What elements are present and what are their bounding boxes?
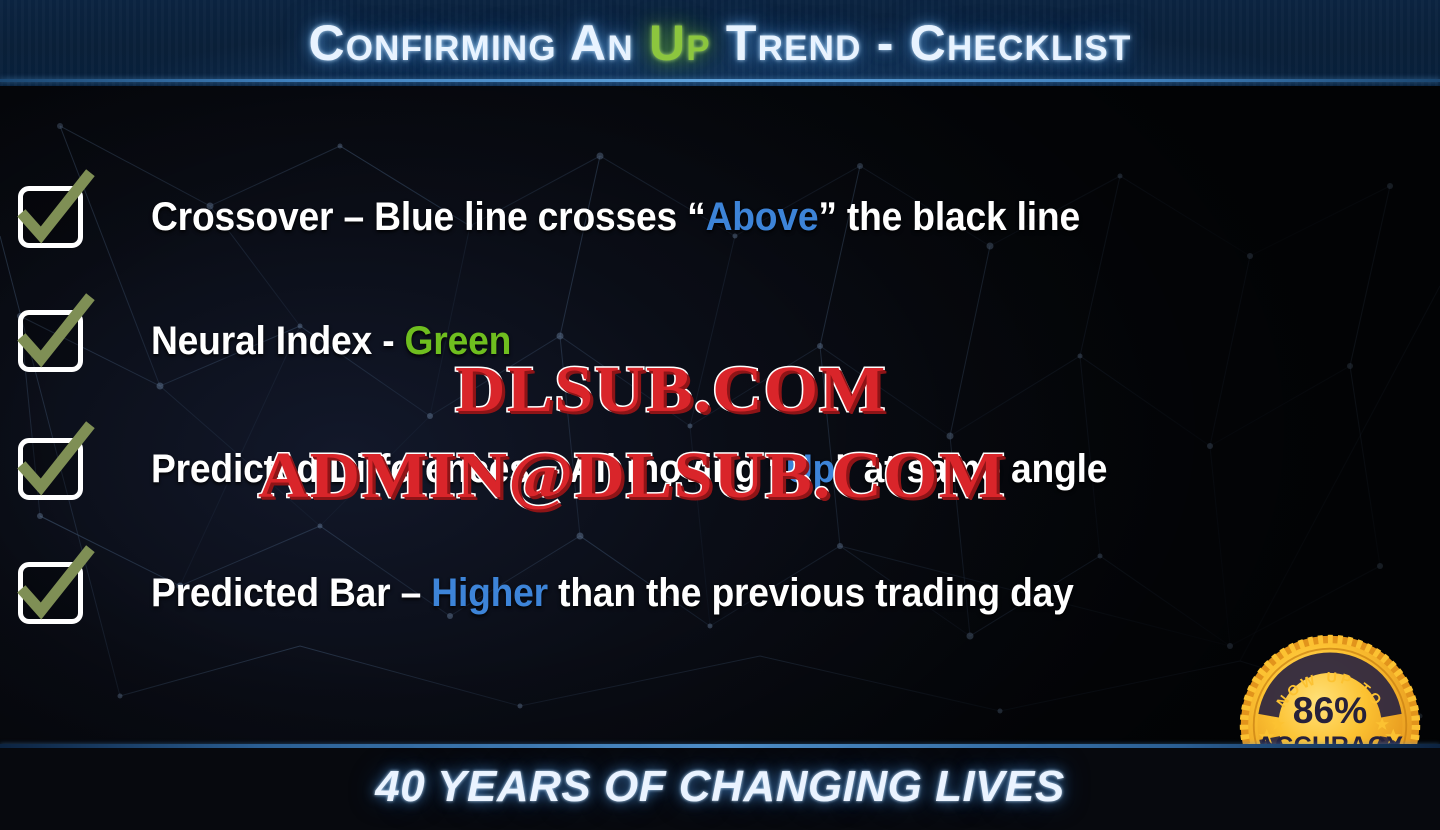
checkmark-glyph [11,549,103,637]
checked-checkbox-icon[interactable] [18,438,83,500]
slide-root: Confirming An Up Trend - Checklist [0,0,1440,830]
checkmark-glyph [11,297,103,385]
label-segment-accent: Above [706,195,819,239]
label-segment: than the previous trading day [548,571,1074,615]
label-segment: ” the black line [818,195,1080,239]
page-title-pre: Confirming An [308,15,648,71]
badge-label-text: ACCURACY [1257,732,1404,744]
slide-body: Crossover – Blue line crosses “Above” th… [0,86,1440,744]
watermark-site: DLSUB.COM [455,352,886,428]
label-segment-accent: Higher [431,571,548,615]
footer-tagline: 40 YEARS OF CHANGING LIVES [0,754,1440,820]
page-title: Confirming An Up Trend - Checklist [0,6,1440,80]
checked-checkbox-icon[interactable] [18,562,83,624]
checklist-item-label: Predicted Bar – Higher than the previous… [151,570,1074,616]
accuracy-badge: NOW UP TO 86% ACCURACY Documented & Veri… [1237,632,1423,744]
checkmark-glyph [11,173,103,261]
checked-checkbox-icon[interactable] [18,310,83,372]
checked-checkbox-icon[interactable] [18,186,83,248]
checklist-item-crossover[interactable]: Crossover – Blue line crosses “Above” th… [0,180,1440,254]
page-title-post: Trend - Checklist [711,15,1132,71]
label-segment: Crossover – Blue line crosses “ [151,195,706,239]
label-segment: Neural Index - [151,319,405,363]
checklist-item-predicted-bar[interactable]: Predicted Bar – Higher than the previous… [0,556,1440,630]
page-title-highlight: Up [649,15,711,71]
checkmark-glyph [11,425,103,513]
slide-header: Confirming An Up Trend - Checklist [0,0,1440,86]
label-segment: Predicted Bar – [151,571,431,615]
header-divider [0,79,1440,82]
checklist-item-label: Crossover – Blue line crosses “Above” th… [151,194,1080,240]
badge-value-text: 86% [1293,689,1367,731]
slide-footer: 40 YEARS OF CHANGING LIVES VantagePont C… [0,748,1440,830]
watermark-email: ADMIN@DLSUB.COM [258,438,1006,514]
